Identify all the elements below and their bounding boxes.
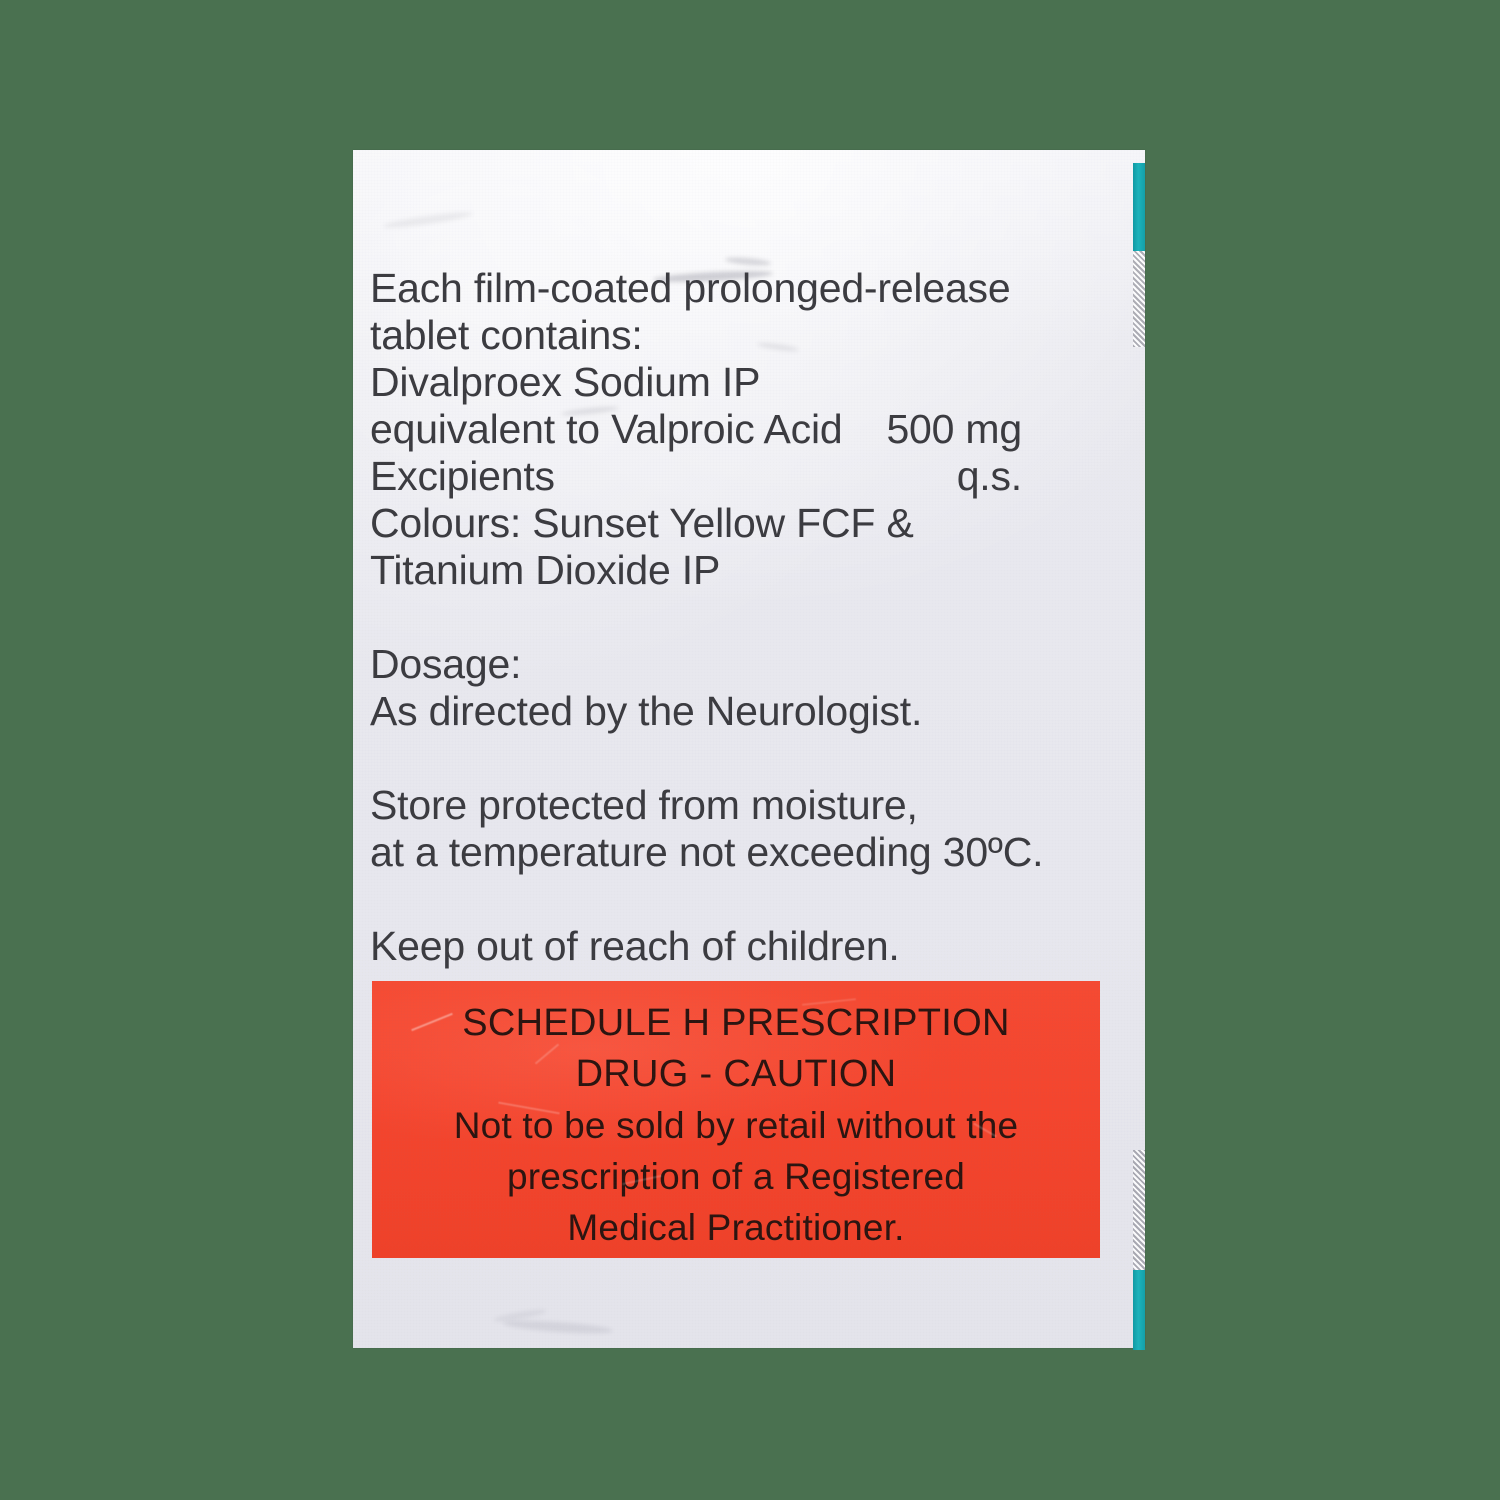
composition-heading-line-1: Each film-coated prolonged-release <box>370 265 1070 312</box>
schedule-h-line-4: prescription of a Registered <box>507 1151 965 1202</box>
ingredient-valproic-acid-row: equivalent to Valproic Acid 500 mg <box>370 406 1022 453</box>
ingredient-excipients-name: Excipients <box>370 453 555 500</box>
gray-registration-strip-top <box>1133 251 1145 347</box>
schedule-h-warning-box: SCHEDULE H PRESCRIPTION DRUG - CAUTION N… <box>372 981 1100 1258</box>
gray-registration-strip-bottom <box>1133 1150 1145 1270</box>
dosage-instruction: As directed by the Neurologist. <box>370 688 1070 735</box>
colours-line-1: Colours: Sunset Yellow FCF & <box>370 500 1070 547</box>
ingredient-excipients-row: Excipients q.s. <box>370 453 1022 500</box>
storage-line-1: Store protected from moisture, <box>370 782 1070 829</box>
schedule-h-line-2: DRUG - CAUTION <box>576 1049 897 1100</box>
composition-heading-line-2: tablet contains: <box>370 312 1070 359</box>
ingredient-valproic-acid-name: equivalent to Valproic Acid <box>370 406 842 453</box>
spacer <box>370 876 1070 923</box>
print-smudge <box>493 1307 547 1323</box>
ingredient-divalproex-name: Divalproex Sodium IP <box>370 359 1070 406</box>
keep-out-of-reach-warning: Keep out of reach of children. <box>370 923 1070 970</box>
carton-text-body: Each film-coated prolonged-release table… <box>370 265 1070 970</box>
schedule-h-line-5: Medical Practitioner. <box>567 1202 904 1253</box>
teal-registration-strip-bottom <box>1133 1270 1145 1350</box>
ingredient-valproic-acid-amount: 500 mg <box>886 406 1022 453</box>
schedule-h-line-1: SCHEDULE H PRESCRIPTION <box>462 998 1009 1049</box>
print-smudge <box>503 1318 613 1336</box>
colours-line-2: Titanium Dioxide IP <box>370 547 1070 594</box>
spacer <box>370 735 1070 782</box>
ingredient-excipients-amount: q.s. <box>957 453 1022 500</box>
dosage-label: Dosage: <box>370 641 1070 688</box>
print-smudge <box>383 210 473 230</box>
schedule-h-line-3: Not to be sold by retail without the <box>454 1100 1019 1151</box>
spacer <box>370 594 1070 641</box>
teal-registration-strip-top <box>1133 163 1145 251</box>
medicine-carton-back-panel: Each film-coated prolonged-release table… <box>353 150 1145 1348</box>
screenshot-stage: Each film-coated prolonged-release table… <box>0 0 1500 1500</box>
label-scratch <box>411 1013 453 1031</box>
storage-line-2: at a temperature not exceeding 30ºC. <box>370 829 1070 876</box>
